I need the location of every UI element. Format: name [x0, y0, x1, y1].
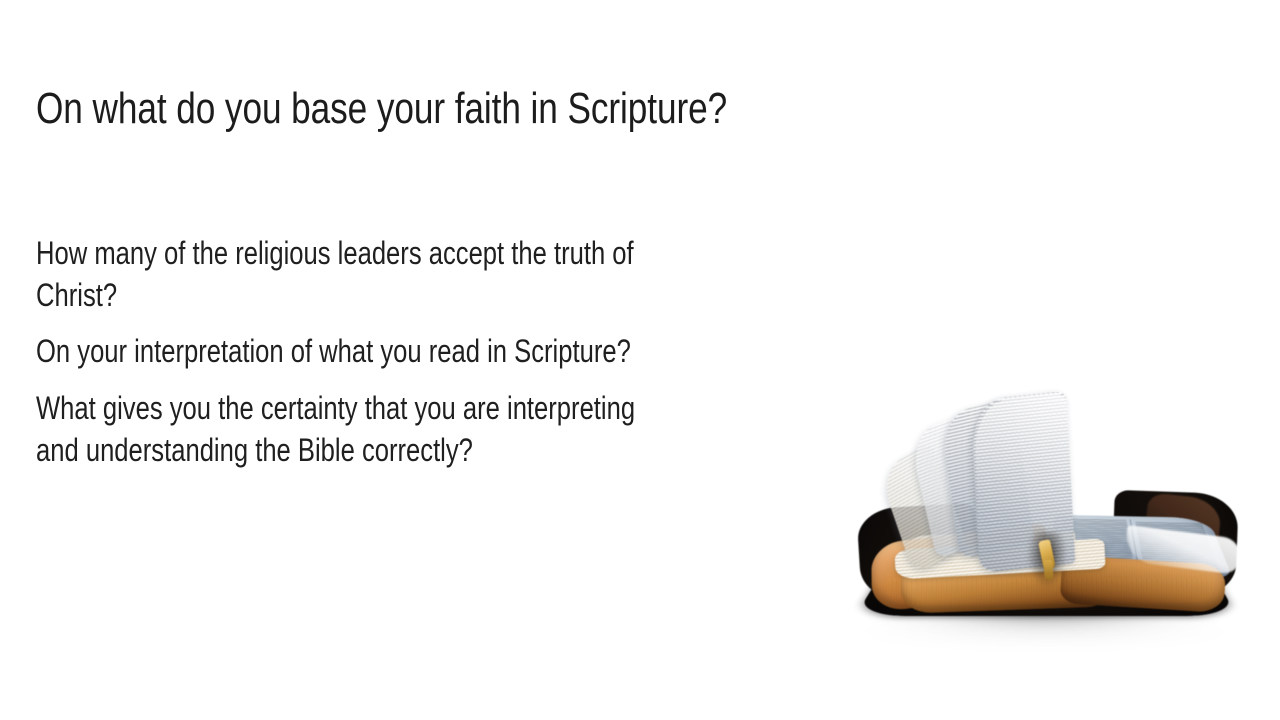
body-paragraph-2: On your interpretation of what you read …: [36, 330, 980, 372]
open-bible-photo: [845, 392, 1245, 660]
body-paragraph-2-line-1: On your interpretation of what you read …: [36, 330, 980, 372]
body-paragraph-3-line-1: What gives you the certainty that you ar…: [36, 387, 980, 429]
body-content: How many of the religious leaders accept…: [36, 232, 986, 471]
bible-ribbon-tail: [1043, 560, 1053, 581]
presentation-slide: On what do you base your faith in Script…: [0, 0, 1280, 720]
body-paragraph-1: How many of the religious leaders accept…: [36, 232, 980, 316]
body-paragraph-3-line-2: and understanding the Bible correctly?: [36, 429, 980, 471]
page-title: On what do you base your faith in Script…: [36, 84, 836, 135]
body-paragraph-1-line-1: How many of the religious leaders accept…: [36, 232, 980, 274]
body-paragraph-1-line-2: Christ?: [36, 274, 980, 316]
body-paragraph-3: What gives you the certainty that you ar…: [36, 387, 980, 471]
